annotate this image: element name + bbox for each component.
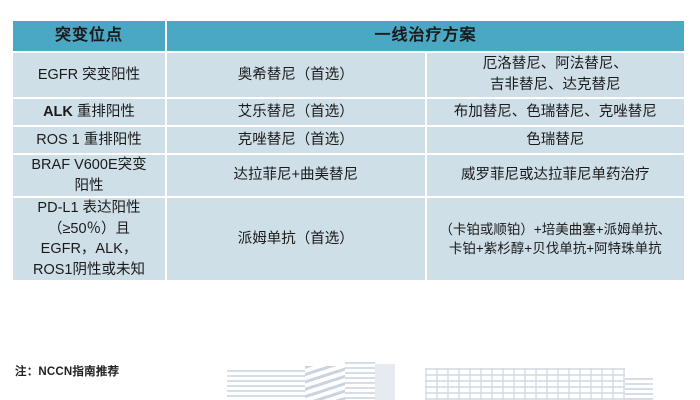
cell-preferred-regimen: 达拉菲尼+曲美替尼 [167, 155, 425, 196]
cell-alternative-regimen: 色瑞替尼 [427, 127, 685, 153]
mutation-line: ROS 1 重排阳性 [13, 130, 165, 151]
alternative-line: 卡铂+紫杉醇+贝伐单抗+阿特珠单抗 [427, 239, 685, 258]
table-body: EGFR 突变阳性 奥希替尼（首选） 厄洛替尼、阿法替尼、 吉非替尼、达克替尼 … [13, 53, 684, 280]
cell-alternative-regimen: 厄洛替尼、阿法替尼、 吉非替尼、达克替尼 [427, 53, 685, 97]
watermark-building-slab [375, 364, 395, 400]
table-header: 突变位点 一线治疗方案 [13, 21, 684, 51]
cell-mutation: EGFR 突变阳性 [13, 53, 165, 97]
mutation-line: EGFR，ALK， [13, 239, 165, 260]
alternative-line: 厄洛替尼、阿法替尼、 [427, 54, 685, 75]
cell-alternative-regimen: 威罗菲尼或达拉菲尼单药治疗 [427, 155, 685, 196]
alternative-line: 吉非替尼、达克替尼 [427, 75, 685, 96]
table-row: EGFR 突变阳性 奥希替尼（首选） 厄洛替尼、阿法替尼、 吉非替尼、达克替尼 [13, 53, 684, 97]
table-row: ROS 1 重排阳性 克唑替尼（首选） 色瑞替尼 [13, 127, 684, 153]
mutation-line: 阳性 [13, 176, 165, 197]
mutation-line: ROS1阴性或未知 [13, 260, 165, 281]
table-row: PD-L1 表达阳性 （≥50％）且 EGFR，ALK， ROS1阴性或未知 派… [13, 198, 684, 280]
mutation-line: PD-L1 表达阳性 [13, 198, 165, 219]
cell-mutation: BRAF V600E突变 阳性 [13, 155, 165, 196]
alternative-line: 色瑞替尼 [427, 130, 685, 151]
cell-preferred-regimen: 克唑替尼（首选） [167, 127, 425, 153]
alternative-line: 威罗菲尼或达拉菲尼单药治疗 [427, 165, 685, 186]
cell-preferred-regimen: 艾乐替尼（首选） [167, 99, 425, 125]
cell-preferred-regimen: 奥希替尼（首选） [167, 53, 425, 97]
table-row: ALK 重排阳性 艾乐替尼（首选） 布加替尼、色瑞替尼、克唑替尼 [13, 99, 684, 125]
mutation-line: EGFR 突变阳性 [13, 65, 165, 86]
mutation-gene-label: ALK [43, 104, 73, 120]
footnote-source-note: 注：NCCN指南推荐 [15, 363, 119, 379]
watermark-building-tower [345, 362, 375, 400]
watermark-building-far-right [625, 378, 653, 400]
cell-alternative-regimen: （卡铂或顺铂）+培美曲塞+派姆单抗、 卡铂+紫杉醇+贝伐单抗+阿特珠单抗 [427, 198, 685, 280]
cell-preferred-regimen: 派姆单抗（首选） [167, 198, 425, 280]
mutation-status-label: 重排阳性 [73, 104, 135, 120]
cell-mutation: ROS 1 重排阳性 [13, 127, 165, 153]
header-row: 突变位点 一线治疗方案 [13, 21, 684, 51]
treatment-table-container: 突变位点 一线治疗方案 EGFR 突变阳性 奥希替尼（首选） 厄洛替尼、阿法替尼… [13, 21, 688, 280]
header-cell-mutation: 突变位点 [13, 21, 165, 51]
cell-alternative-regimen: 布加替尼、色瑞替尼、克唑替尼 [427, 99, 685, 125]
table-row: BRAF V600E突变 阳性 达拉菲尼+曲美替尼 威罗菲尼或达拉菲尼单药治疗 [13, 155, 684, 196]
header-cell-regimen: 一线治疗方案 [167, 21, 684, 51]
alternative-line: （卡铂或顺铂）+培美曲塞+派姆单抗、 [427, 220, 685, 239]
watermark-building-left [227, 370, 305, 400]
mutation-line: （≥50％）且 [13, 219, 165, 240]
watermark-building-right [425, 368, 625, 400]
cell-mutation: ALK 重排阳性 [13, 99, 165, 125]
alternative-line: 布加替尼、色瑞替尼、克唑替尼 [427, 102, 685, 123]
treatment-table: 突变位点 一线治疗方案 EGFR 突变阳性 奥希替尼（首选） 厄洛替尼、阿法替尼… [11, 19, 686, 282]
watermark-building-mid [305, 366, 345, 400]
cell-mutation: PD-L1 表达阳性 （≥50％）且 EGFR，ALK， ROS1阴性或未知 [13, 198, 165, 280]
mutation-line: BRAF V600E突变 [13, 155, 165, 176]
